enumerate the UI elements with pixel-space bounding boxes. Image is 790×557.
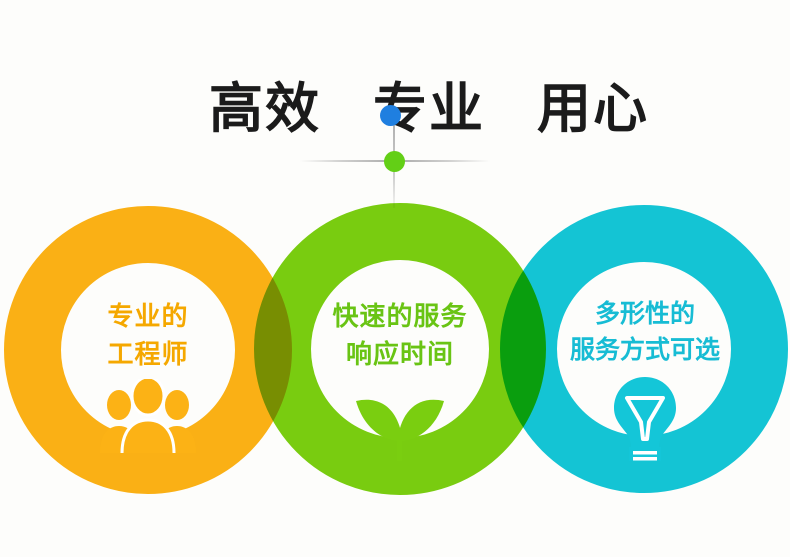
infographic-canvas: 高效专业用心 专业的 工程师 bbox=[0, 0, 790, 557]
circle-content-response-time: 快速的服务 响应时间 bbox=[300, 298, 500, 461]
circle-caption-engineers: 专业的 工程师 bbox=[48, 298, 248, 373]
people-icon bbox=[96, 379, 200, 453]
circle-content-engineers: 专业的 工程师 bbox=[48, 298, 248, 453]
sprout-icon bbox=[344, 379, 456, 461]
venn-ring-group bbox=[0, 0, 790, 557]
circle-content-service-options: 多形性的 服务方式可选 bbox=[536, 296, 754, 461]
circle-caption-response-time: 快速的服务 响应时间 bbox=[300, 298, 500, 373]
lightbulb-icon bbox=[602, 375, 688, 461]
circle-caption-service-options: 多形性的 服务方式可选 bbox=[536, 296, 754, 369]
